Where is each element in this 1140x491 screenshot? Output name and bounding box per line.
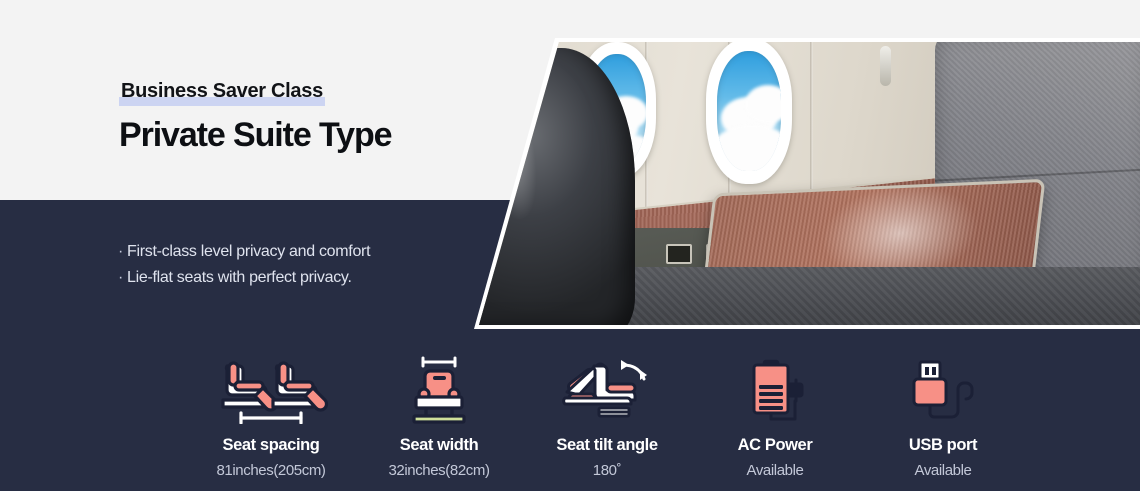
cloud — [717, 125, 781, 171]
ac-power-icon — [740, 352, 810, 426]
feature-row: Seat spacing 81inches(205cm) — [0, 352, 1140, 479]
bullet-text: Lie-flat seats with perfect privacy. — [127, 269, 352, 286]
feature-value: Available — [914, 462, 971, 479]
bullet-text: First-class level privacy and comfort — [127, 243, 370, 260]
bullet-marker-icon: · — [118, 243, 123, 260]
list-item: ·First-class level privacy and comfort — [118, 239, 370, 265]
feature-title: Seat tilt angle — [556, 436, 657, 455]
feature-title: Seat spacing — [223, 436, 320, 455]
feature-title: USB port — [909, 436, 977, 455]
seat-width-icon — [404, 352, 474, 426]
feature-value: 32inches(82cm) — [388, 462, 489, 479]
feature-value: 81inches(205cm) — [216, 462, 325, 479]
feature-value: 180˚ — [593, 462, 621, 479]
seat-tilt-icon — [561, 352, 653, 426]
feature-title: Seat width — [400, 436, 479, 455]
cabin-photo-inner — [470, 38, 1140, 329]
reading-light-icon — [880, 46, 891, 86]
cabin-photo — [470, 38, 1140, 329]
feature-bullet-list: ·First-class level privacy and comfort ·… — [118, 239, 370, 291]
feature-usb-port: USB port Available — [863, 352, 1023, 479]
usb-port-icon — [904, 352, 982, 426]
feature-value: Available — [746, 462, 803, 479]
class-eyebrow-label: Business Saver Class — [119, 78, 325, 106]
feature-seat-width: Seat width 32inches(82cm) — [359, 352, 519, 479]
list-item: ·Lie-flat seats with perfect privacy. — [118, 265, 370, 291]
bullet-marker-icon: · — [118, 269, 123, 286]
feature-ac-power: AC Power Available — [695, 352, 855, 479]
feature-seat-tilt-angle: Seat tilt angle 180˚ — [527, 352, 687, 479]
window-glass — [717, 51, 781, 171]
feature-title: AC Power — [738, 436, 813, 455]
ac-outlet — [666, 244, 692, 264]
eyebrow-wrapper: Business Saver Class — [119, 78, 325, 106]
seat-spacing-icon — [209, 352, 333, 426]
cabin-window — [706, 38, 792, 184]
page-title: Private Suite Type — [119, 113, 391, 157]
feature-seat-spacing: Seat spacing 81inches(205cm) — [191, 352, 351, 479]
